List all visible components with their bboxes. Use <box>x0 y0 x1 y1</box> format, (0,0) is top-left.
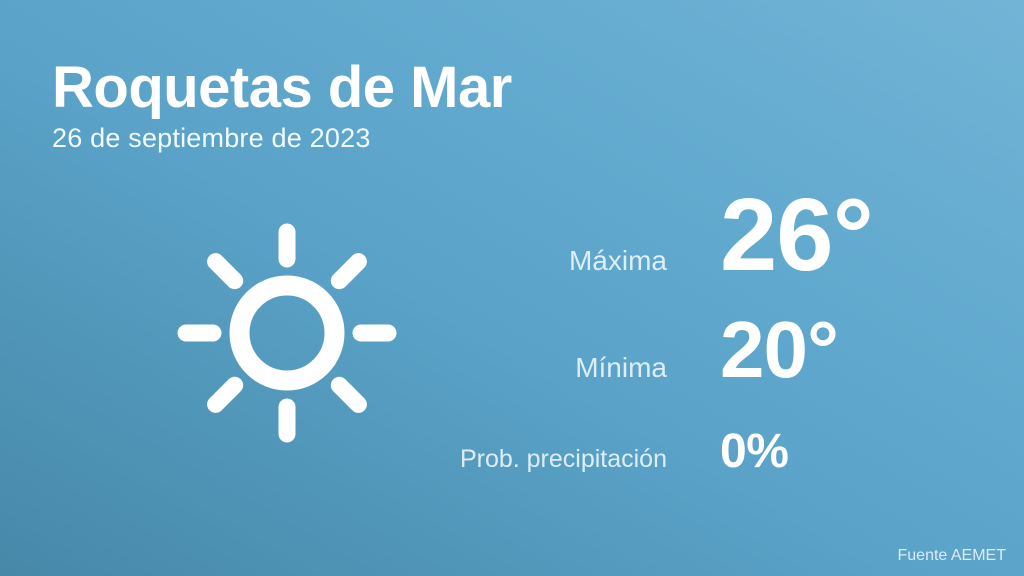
minima-label: Mínima <box>420 352 667 384</box>
page-title: Roquetas de Mar <box>52 58 672 117</box>
source-attribution: Fuente AEMET <box>898 547 1007 565</box>
forecast-row-precipitacion: Prob. precipitación 0% <box>420 424 980 504</box>
header: Roquetas de Mar 26 de septiembre de 2023 <box>52 58 672 154</box>
precipitacion-value: 0% <box>667 424 788 479</box>
forecast-date: 26 de septiembre de 2023 <box>52 117 672 154</box>
forecast-row-minima: Mínima 20° <box>420 304 980 424</box>
maxima-label: Máxima <box>420 245 667 277</box>
sun-icon <box>167 213 407 453</box>
precipitacion-label: Prob. precipitación <box>420 445 667 474</box>
forecast-data-panel: Máxima 26° Mínima 20° Prob. precipitació… <box>420 176 980 504</box>
sun-icon-graphic <box>167 213 407 453</box>
weather-card: Roquetas de Mar 26 de septiembre de 2023… <box>0 0 1024 576</box>
minima-value: 20° <box>667 304 838 396</box>
forecast-row-maxima: Máxima 26° <box>420 176 980 304</box>
maxima-value: 26° <box>667 176 873 294</box>
